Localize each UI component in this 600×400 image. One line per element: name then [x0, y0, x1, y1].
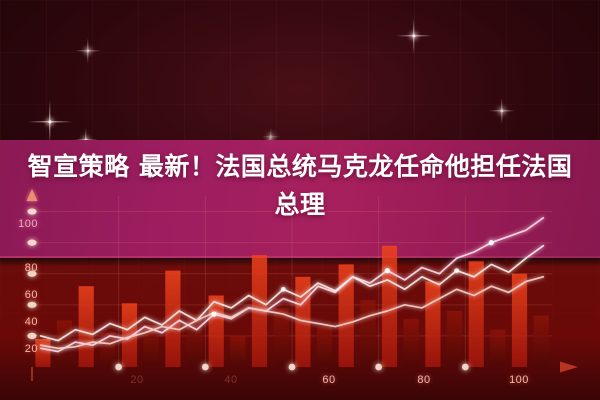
headline-line-1: 智宣策略 最新！法国总统马克龙任命他担任法国 [0, 148, 600, 186]
x-tick-label-40: 40 [214, 374, 248, 386]
x-tick-label-60: 60 [312, 374, 346, 386]
y-tick-label-60: 60 [8, 289, 38, 301]
headline-line-2: 总理 [0, 186, 600, 224]
y-tick-label-40: 40 [8, 316, 38, 328]
x-tick-label-100: 100 [502, 374, 536, 386]
headline: 智宣策略 最新！法国总统马克龙任命他担任法国 总理 [0, 148, 600, 224]
news-banner: 100 80 60 40 20 20 40 60 80 100 智宣策略 最新！… [0, 0, 600, 400]
x-tick-label-80: 80 [407, 374, 441, 386]
y-tick-label-20: 20 [8, 343, 38, 355]
y-tick-label-80: 80 [8, 262, 38, 274]
x-tick-label-20: 20 [120, 374, 154, 386]
